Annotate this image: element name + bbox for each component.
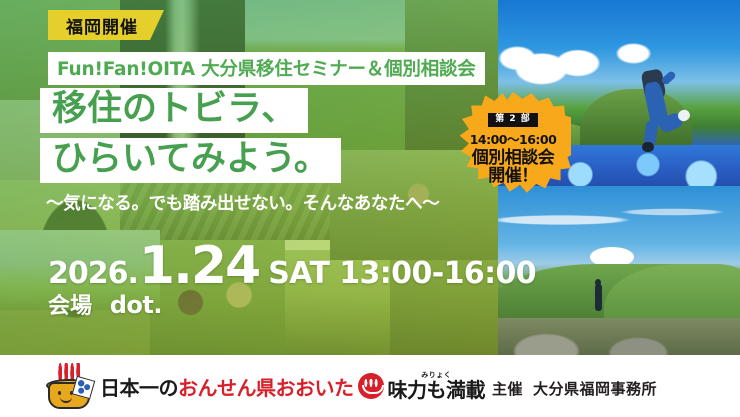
hiker-body xyxy=(595,284,602,311)
onsen-hot-spring-icon xyxy=(358,373,384,399)
shoe-left xyxy=(642,142,654,151)
event-venue-line: 会場 dot. xyxy=(48,288,162,320)
headline-line2-band: ひらいてみよう。 xyxy=(40,138,341,183)
headline-line2: ひらいてみよう。 xyxy=(52,139,329,179)
event-time: SAT 13:00-16:00 xyxy=(268,256,536,291)
location-tag-fukuoka: 福岡開催 xyxy=(48,10,164,40)
jumping-person xyxy=(634,67,687,153)
badge-title-line2: 開催！ xyxy=(488,167,538,187)
event-date-line: 2026. 1.24 SAT 13:00-16:00 xyxy=(48,243,536,291)
host-label: 主催 xyxy=(492,380,523,398)
logo-suffix-ruby-wrap: みりょく 味力も満載 xyxy=(388,372,486,400)
badge-time: 14:00〜16:00 xyxy=(470,129,557,148)
logo-highlight: おんせん県おおいた xyxy=(178,372,354,401)
tagline-wrap: 〜気になる。でも踏み出せない。そんなあなたへ〜 xyxy=(46,190,439,215)
oita-onsen-logo: 日本一の おんせん県おおいた みりょく 味力も満載 xyxy=(44,365,485,407)
clouds xyxy=(498,41,740,89)
headline-line1-band: 移住のトビラ、 xyxy=(40,88,308,133)
logo-suffix: 味力も満載 xyxy=(388,380,486,400)
rocky-summit xyxy=(498,318,740,355)
host-line: 主催大分県福岡事務所 xyxy=(492,378,657,399)
onsen-tub-mascot-icon xyxy=(44,365,94,407)
event-day: 1.24 xyxy=(139,243,259,290)
starburst-content: 第 2 部 14:00〜16:00 個別相談会 開催！ xyxy=(455,92,571,204)
seminar-subtitle: Fun!Fan!OITA 大分県移住セミナー＆個別相談会 xyxy=(57,59,476,80)
headline-line1: 移住のトビラ、 xyxy=(52,89,296,129)
venue-name: dot. xyxy=(110,291,162,319)
raised-arm xyxy=(661,70,677,86)
logo-prefix: 日本一の xyxy=(100,372,178,401)
host-name: 大分県福岡事務所 xyxy=(533,380,657,398)
part2-starburst-badge: 第 2 部 14:00〜16:00 個別相談会 開催！ xyxy=(455,92,571,204)
badge-title-line1: 個別相談会 xyxy=(472,149,555,168)
event-year: 2026. xyxy=(48,256,138,291)
onsen-logo-text: 日本一の おんせん県おおいた みりょく 味力も満載 xyxy=(100,372,485,401)
tagline: 〜気になる。でも踏み出せない。そんなあなたへ〜 xyxy=(46,194,439,214)
location-tag-label: 福岡開催 xyxy=(66,13,138,38)
badge-part-label: 第 2 部 xyxy=(488,113,538,126)
venue-label: 会場 xyxy=(48,294,92,319)
seminar-subtitle-band: Fun!Fan!OITA 大分県移住セミナー＆個別相談会 xyxy=(48,52,485,85)
bath-bowl xyxy=(362,385,384,394)
event-poster: 福岡開催 Fun!Fan!OITA 大分県移住セミナー＆個別相談会 移住のトビラ… xyxy=(0,0,740,417)
